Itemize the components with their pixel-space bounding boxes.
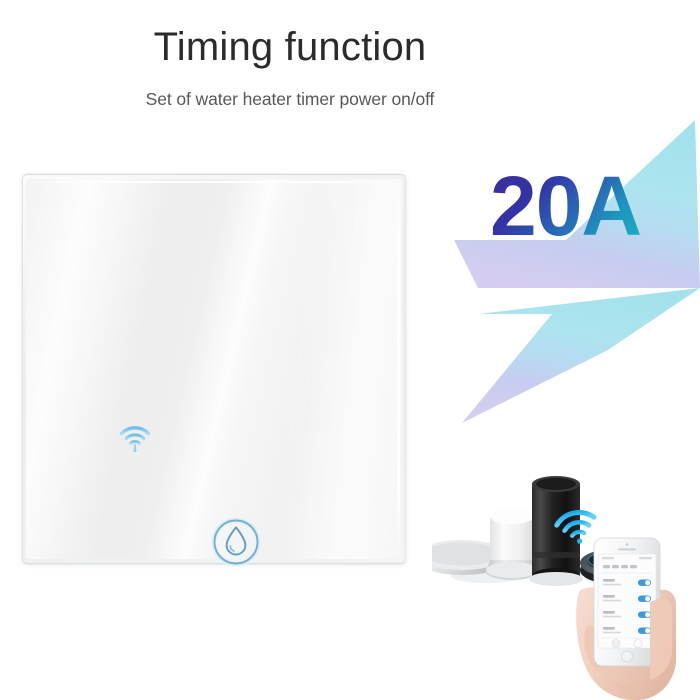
amperage-rating-bolt bbox=[448, 118, 700, 424]
wifi-touch-wall-switch bbox=[22, 174, 406, 564]
wifi-icon bbox=[118, 424, 152, 452]
glass-sheen-left bbox=[26, 179, 188, 559]
page-subtitle: Set of water heater timer power on/off bbox=[0, 89, 580, 110]
tab-devices bbox=[612, 640, 620, 648]
product-marketing-banner: Timing function Set of water heater time… bbox=[0, 0, 700, 700]
panel-edge-highlight-top bbox=[34, 181, 394, 183]
earpiece bbox=[618, 548, 636, 550]
page-title: Timing function bbox=[0, 26, 580, 68]
water-drop-touch-button[interactable] bbox=[208, 514, 264, 570]
sr-headline: Timing function bbox=[0, 0, 1, 1]
front-camera-icon bbox=[626, 543, 629, 546]
tab-profile bbox=[634, 640, 642, 648]
panel-edge-highlight-right bbox=[397, 186, 400, 552]
smartphone-in-hand bbox=[572, 532, 692, 700]
glass-sheen-right bbox=[271, 179, 402, 559]
panel-glass-face bbox=[26, 179, 402, 559]
google-home-speaker bbox=[486, 508, 538, 580]
sr-rating: 20A bbox=[0, 0, 1, 1]
home-button bbox=[622, 651, 633, 662]
